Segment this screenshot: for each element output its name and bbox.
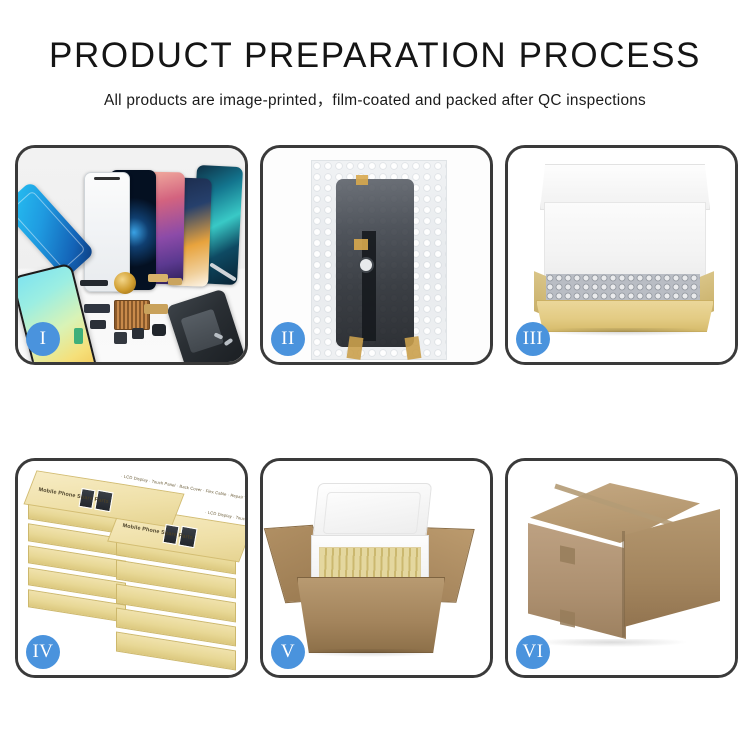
tape-tab-bottom-left [347,336,364,360]
carton-body [297,577,445,653]
tape-tab-top [356,175,368,185]
part-module-2 [114,332,127,344]
part-module-1 [90,320,106,329]
part-bar [80,280,108,286]
process-step-card-2[interactable]: II [260,145,493,365]
bubble-wrap-layer [546,274,700,304]
carton-shadow [536,639,686,647]
page-title: PRODUCT PREPARATION PROCESS [0,38,750,75]
connector-dot [358,257,374,273]
carton-label-tab-lower [560,609,575,627]
process-step-grid: I II III [15,145,737,678]
process-step-card-1[interactable]: I [15,145,248,365]
step-badge-2: II [271,322,305,356]
step-badge-4: IV [26,635,60,669]
step-badge-1: I [26,322,60,356]
foam-box-lid [312,483,432,543]
part-ribbon-cable [84,304,110,313]
tape-tab-mid [354,239,368,250]
page-header: PRODUCT PREPARATION PROCESS All products… [0,0,750,110]
step-badge-6: VI [516,635,550,669]
step-badge-5: V [271,635,305,669]
part-flex-cable-3 [144,304,168,314]
tape-tab-bottom-right [405,336,422,360]
process-step-card-4[interactable]: Mobile Phone Spare Parts · LCD Display ·… [15,458,248,678]
bubble-wrap-bag [311,160,447,360]
part-module-3 [132,328,144,339]
carton-corner-seam [622,531,625,637]
part-camera-module [152,324,166,336]
part-flex-cable-2 [168,278,182,285]
part-battery-strip [74,328,83,344]
process-step-card-6[interactable]: VI [505,458,738,678]
part-speaker-coil [114,272,136,294]
box-shadow [542,328,706,336]
process-step-card-5[interactable]: V [260,458,493,678]
carton-label-tab-upper [560,545,575,564]
process-step-card-3[interactable]: III [505,145,738,365]
carton-shadow [303,649,437,657]
page-subtitle: All products are image-printed，film-coat… [0,88,750,110]
part-flex-cable-1 [148,274,168,282]
step-badge-3: III [516,322,550,356]
foam-sheet [544,202,706,278]
